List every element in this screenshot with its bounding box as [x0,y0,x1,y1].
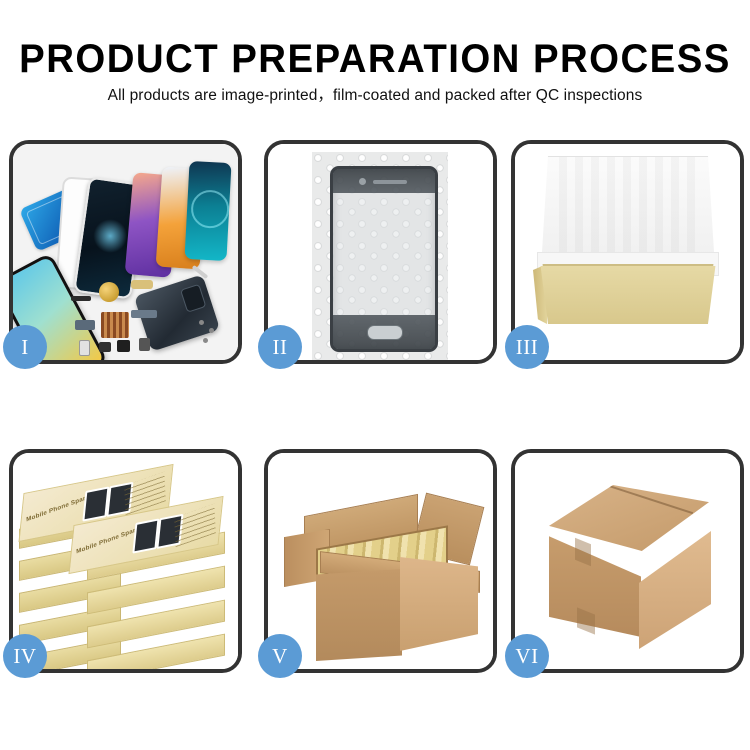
step-badge-6: VI [505,634,549,678]
process-step-3[interactable]: III [511,140,744,364]
spare-part-screw-3 [203,338,208,343]
box-print-phone-image-1 [82,486,109,521]
step-4-image: Mobile Phone Spare Parts Mobile Phone Sp… [13,453,238,669]
step-2-image [268,144,493,360]
process-step-5[interactable]: V [264,449,497,673]
teal-phone-screen [184,161,231,261]
carton-right-face [639,531,711,649]
home-button-cutout [367,325,403,340]
step-badge-3: III [505,325,549,369]
step-6-image [515,453,740,669]
box-print-spec-lines-2 [174,504,216,547]
stacked-boxes-photo: Mobile Phone Spare Parts Mobile Phone Sp… [13,453,238,669]
carton-body-right [400,557,478,651]
spare-part-sim-tray [79,340,90,356]
phone-front-glass [330,166,438,352]
process-step-2[interactable]: II [264,140,497,364]
process-step-grid: I II [0,0,750,750]
spare-part-camera [99,342,111,352]
spare-part-module [117,340,130,352]
spare-part-screw-1 [199,320,204,325]
sealed-carton-photo [515,453,740,669]
step-badge-5: V [258,634,302,678]
spare-part-screw-2 [209,328,214,333]
carton-top-face [549,485,709,551]
earpiece-speaker [373,180,407,184]
box-stack: Mobile Phone Spare Parts Mobile Phone Sp… [13,453,238,669]
bubble-wrapped-screen-photo [268,144,493,360]
spare-part-flex-cable [131,280,153,289]
spare-part-button [139,338,150,351]
step-badge-1: I [3,325,47,369]
front-camera-hole [359,178,366,185]
kraft-tray-body [535,266,721,324]
step-badge-2: II [258,325,302,369]
open-carton-photo [268,453,493,669]
process-step-4[interactable]: Mobile Phone Spare Parts Mobile Phone Sp… [9,449,242,673]
phone-parts-photo [13,144,238,360]
spare-part-board [101,312,129,338]
open-tray-box-photo [515,144,740,360]
carton-body-front [316,569,402,661]
product-preparation-process-page: PRODUCT PREPARATION PROCESS All products… [0,0,750,750]
step-3-image [515,144,740,360]
spare-part-connector [75,320,95,330]
step-5-image [268,453,493,669]
process-step-1[interactable]: I [9,140,242,364]
box-print-phone-image-3 [132,518,159,553]
spare-part-speaker [99,282,119,302]
spare-part-chip [71,296,91,301]
process-step-6[interactable]: VI [511,449,744,673]
step-badge-4: IV [3,634,47,678]
step-1-image [13,144,238,360]
spare-part-ribbon [131,310,157,318]
lid-ridge-texture [559,157,697,267]
carton-tape-seam [568,471,693,513]
